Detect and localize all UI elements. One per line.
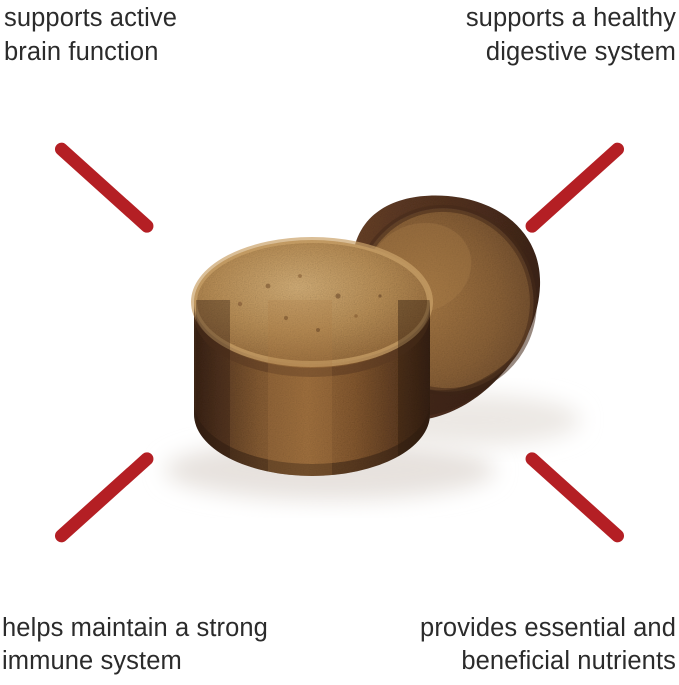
back-chew — [333, 185, 557, 420]
red-dash-bottom-right — [523, 450, 627, 545]
product-infographic: supports active brain function supports … — [0, 0, 679, 685]
callout-bottom-left: helps maintain a strong immune system — [2, 612, 268, 679]
red-dash-top-right — [523, 140, 627, 235]
front-chew — [194, 240, 432, 480]
red-dash-top-left — [52, 140, 156, 235]
callout-top-left: supports active brain function — [4, 2, 177, 69]
product-shadow — [165, 394, 580, 500]
product-photo — [0, 0, 679, 685]
callout-bottom-right: provides essential and beneficial nutrie… — [420, 612, 676, 679]
callout-top-right: supports a healthy digestive system — [466, 2, 676, 69]
red-dash-bottom-left — [52, 450, 156, 545]
